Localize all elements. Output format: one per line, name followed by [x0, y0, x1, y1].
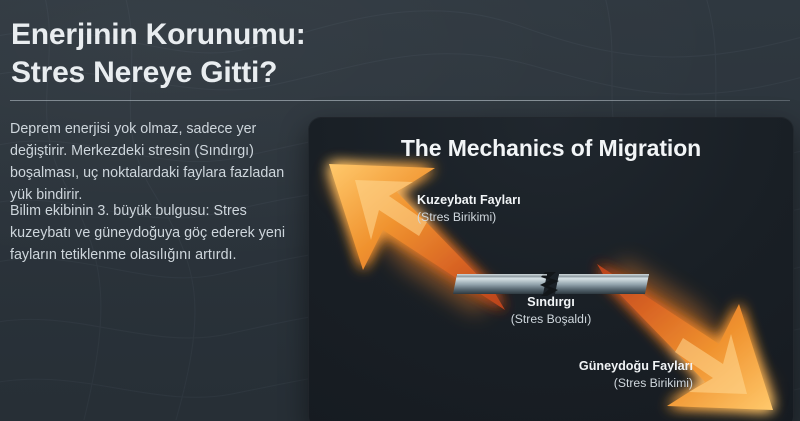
migration-diagram-graphic [309, 118, 793, 421]
body-paragraph-1: Deprem enerjisi yok olmaz, sadece yer de… [10, 118, 288, 207]
panel-title: The Mechanics of Migration [309, 135, 793, 162]
label-center-title: Sındırgı [309, 294, 793, 311]
page-title: Enerjinin Korunumu: Stres Nereye Gitti? [11, 16, 531, 93]
header-divider [10, 100, 790, 101]
label-center-epicenter: Sındırgı (Stres Boşaldı) [309, 294, 793, 327]
label-southeast-title: Güneydoğu Fayları [579, 358, 693, 375]
slide-root: Enerjinin Korunumu: Stres Nereye Gitti? … [0, 0, 800, 421]
label-northwest-faults: Kuzeybatı Fayları (Stres Birikimi) [417, 192, 521, 225]
label-southeast-subtitle: (Stres Birikimi) [579, 375, 693, 391]
label-northwest-title: Kuzeybatı Fayları [417, 192, 521, 209]
label-northwest-subtitle: (Stres Birikimi) [417, 209, 521, 225]
label-southeast-faults: Güneydoğu Fayları (Stres Birikimi) [579, 358, 693, 391]
fault-line-bar [453, 272, 649, 296]
migration-diagram-panel: The Mechanics of Migration [308, 117, 794, 421]
label-center-subtitle: (Stres Boşaldı) [309, 311, 793, 327]
body-paragraph-2: Bilim ekibinin 3. büyük bulgusu: Stres k… [10, 200, 288, 266]
